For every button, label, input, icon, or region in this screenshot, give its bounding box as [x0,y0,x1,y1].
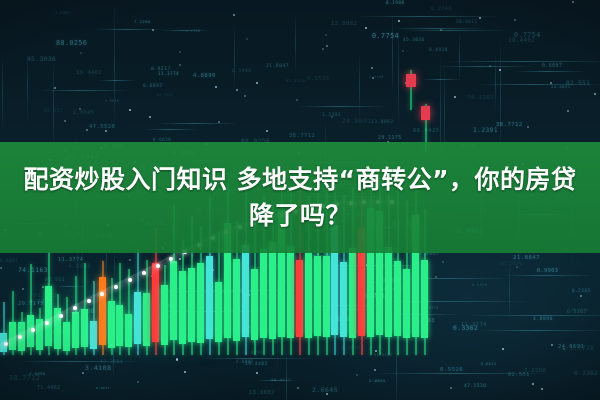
headline-banner: 配资炒股入门知识 多地支持“商转公”，你的房贷 降了吗？ [0,142,600,253]
headline-text: 配资炒股入门知识 多地支持“商转公”，你的房贷 降了吗？ [23,162,576,234]
news-banner-image: 47.552091.33701.23914.889011.377424.6691… [0,0,600,400]
headline-line-1: 配资炒股入门知识 多地支持“商转公”，你的房贷 [23,162,576,198]
headline-line-2: 降了吗？ [23,198,576,234]
